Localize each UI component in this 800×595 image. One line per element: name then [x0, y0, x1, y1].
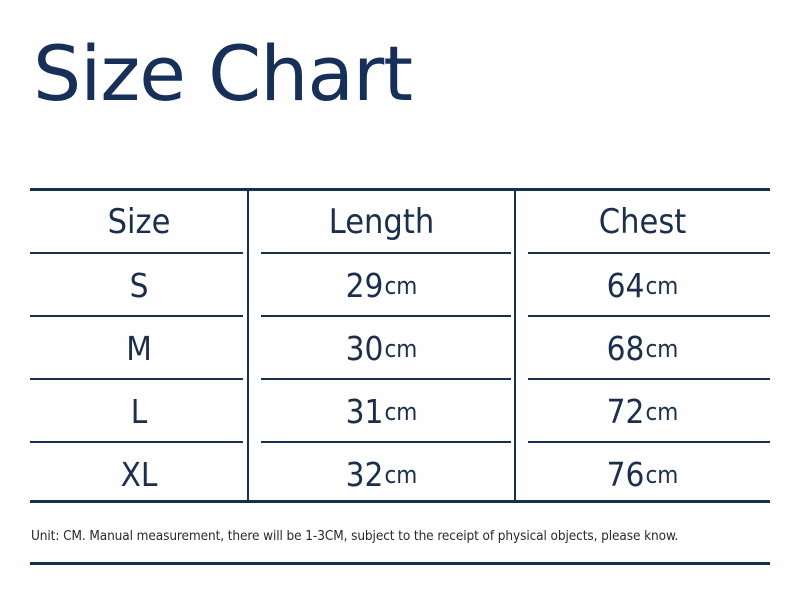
table-row: M 30cm 68cm: [30, 317, 770, 380]
column-header-size: Size: [30, 190, 248, 253]
column-header-length: Length: [248, 190, 515, 253]
cell-chest-unit: cm: [645, 398, 678, 426]
size-chart-table: Size Length Chest S 29cm 64cm M 30cm: [30, 188, 770, 502]
cell-chest: 68cm: [515, 317, 770, 380]
column-header-chest: Chest: [515, 190, 770, 253]
cell-length-unit: cm: [384, 272, 417, 300]
cell-chest-unit: cm: [645, 335, 678, 363]
cell-length-unit: cm: [384, 461, 417, 489]
cell-size: S: [30, 254, 248, 317]
cell-length-unit: cm: [384, 335, 417, 363]
measurement-note: Unit: CM. Manual measurement, there will…: [31, 528, 771, 544]
cell-length-value: 31: [346, 392, 384, 431]
cell-chest: 64cm: [515, 254, 770, 317]
cell-size: L: [30, 380, 248, 443]
cell-chest-unit: cm: [645, 272, 678, 300]
cell-chest-value: 72: [607, 392, 645, 431]
table-row: L 31cm 72cm: [30, 380, 770, 443]
page-title: Size Chart: [33, 36, 412, 112]
table-bottom-rule: [30, 500, 770, 503]
page-bottom-rule: [30, 562, 770, 565]
table-row: S 29cm 64cm: [30, 254, 770, 317]
cell-chest-value: 68: [607, 329, 645, 368]
table-row: XL 32cm 76cm: [30, 443, 770, 506]
cell-length: 32cm: [248, 443, 515, 506]
cell-length-unit: cm: [384, 398, 417, 426]
cell-length: 29cm: [248, 254, 515, 317]
size-chart-page: Size Chart Size Length Chest S 29cm 64cm: [0, 0, 800, 595]
cell-length: 31cm: [248, 380, 515, 443]
cell-chest-unit: cm: [645, 461, 678, 489]
cell-chest: 76cm: [515, 443, 770, 506]
cell-chest-value: 64: [607, 266, 645, 305]
cell-length: 30cm: [248, 317, 515, 380]
cell-length-value: 32: [346, 455, 384, 494]
cell-length-value: 30: [346, 329, 384, 368]
cell-size: XL: [30, 443, 248, 506]
table-header-row: Size Length Chest: [30, 190, 770, 253]
cell-size: M: [30, 317, 248, 380]
cell-length-value: 29: [346, 266, 384, 305]
cell-chest-value: 76: [607, 455, 645, 494]
cell-chest: 72cm: [515, 380, 770, 443]
